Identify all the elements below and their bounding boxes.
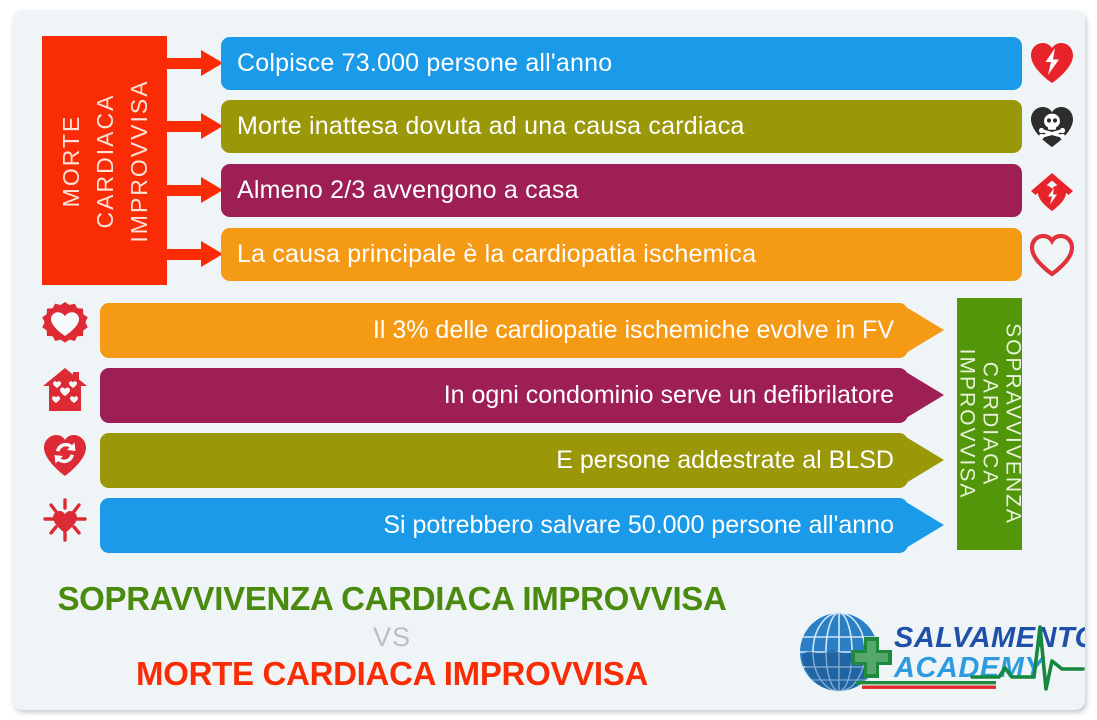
red-arrow-2-shaft xyxy=(167,121,205,132)
morte-cardiaca-source-label: MORTE CARDIACA IMPROVVISA xyxy=(54,79,156,242)
middle-bar-4-head xyxy=(906,502,944,548)
footer-survival-title: SOPRAVVIVENZA CARDIACA IMPROVVISA xyxy=(12,580,772,618)
target-label-line-1: SOPRAVVIVENZA xyxy=(1001,323,1024,525)
top-bar-4[interactable]: La causa principale è la cardiopatia isc… xyxy=(221,228,1022,281)
top-bar-3[interactable]: Almeno 2/3 avvengono a casa xyxy=(221,164,1022,217)
middle-row-3: E persone addestrate al BLSD xyxy=(100,433,960,488)
source-label-line-1: MORTE xyxy=(54,79,88,242)
middle-bar-1-head xyxy=(906,307,944,353)
infographic-canvas: MORTE CARDIACA IMPROVVISA Colpisce 73.00… xyxy=(12,10,1085,710)
red-arrow-1 xyxy=(167,50,223,76)
red-arrow-4 xyxy=(167,241,223,267)
heart-outline-icon xyxy=(1028,231,1076,279)
footer-death-title: MORTE CARDIACA IMPROVVISA xyxy=(12,655,772,693)
house-broken-heart-icon xyxy=(1028,167,1076,215)
heart-recycle-icon xyxy=(40,430,90,480)
heart-badge-icon xyxy=(40,300,90,350)
target-label-line-2: CARDIACA xyxy=(978,323,1001,525)
heart-skull-crossbones-icon xyxy=(1028,103,1076,151)
salvamento-academy-logo[interactable]: SALVAMENTO ACADEMY xyxy=(794,605,1085,700)
red-arrow-2-head xyxy=(201,113,223,139)
middle-bar-2-head xyxy=(906,372,944,418)
middle-bar-3[interactable]: E persone addestrate al BLSD xyxy=(100,433,908,488)
top-bar-1[interactable]: Colpisce 73.000 persone all'anno xyxy=(221,37,1022,90)
red-arrow-2 xyxy=(167,113,223,139)
red-arrow-3-shaft xyxy=(167,185,205,196)
morte-cardiaca-source-box: MORTE CARDIACA IMPROVVISA xyxy=(42,36,167,285)
infographic-frame: MORTE CARDIACA IMPROVVISA Colpisce 73.00… xyxy=(0,0,1097,720)
source-label-line-3: IMPROVVISA xyxy=(122,79,156,242)
middle-row-2: In ogni condominio serve un defibrilator… xyxy=(100,368,960,423)
footer-vs-label: VS xyxy=(12,622,772,653)
logo-red-bar xyxy=(862,686,996,689)
logo-word-academy: ACADEMY xyxy=(893,652,1046,684)
heart-rays-icon xyxy=(40,495,90,545)
middle-bar-4[interactable]: Si potrebbero salvare 50.000 persone all… xyxy=(100,498,908,553)
red-arrow-1-shaft xyxy=(167,58,205,69)
middle-row-1: Il 3% delle cardiopatie ischemiche evolv… xyxy=(100,303,960,358)
house-hearts-icon xyxy=(40,365,90,415)
logo-green-bar xyxy=(856,681,996,684)
middle-bar-1[interactable]: Il 3% delle cardiopatie ischemiche evolv… xyxy=(100,303,908,358)
logo-word-salvamento: SALVAMENTO xyxy=(894,622,1085,654)
sopravvivenza-target-label: SOPRAVVIVENZA CARDIACA IMPROVVISA xyxy=(955,323,1024,525)
middle-row-4: Si potrebbero salvare 50.000 persone all… xyxy=(100,498,960,553)
source-label-line-2: CARDIACA xyxy=(88,79,122,242)
middle-bar-2[interactable]: In ogni condominio serve un defibrilator… xyxy=(100,368,908,423)
sopravvivenza-target-box: SOPRAVVIVENZA CARDIACA IMPROVVISA xyxy=(957,298,1022,550)
red-arrow-3-head xyxy=(201,177,223,203)
red-arrow-3 xyxy=(167,177,223,203)
red-arrow-4-head xyxy=(201,241,223,267)
middle-bar-3-head xyxy=(906,437,944,483)
red-arrow-4-shaft xyxy=(167,249,205,260)
red-arrow-1-head xyxy=(201,50,223,76)
target-label-line-3: IMPROVVISA xyxy=(955,323,978,525)
heart-lightning-icon xyxy=(1028,39,1076,87)
top-bar-2[interactable]: Morte inattesa dovuta ad una causa cardi… xyxy=(221,100,1022,153)
